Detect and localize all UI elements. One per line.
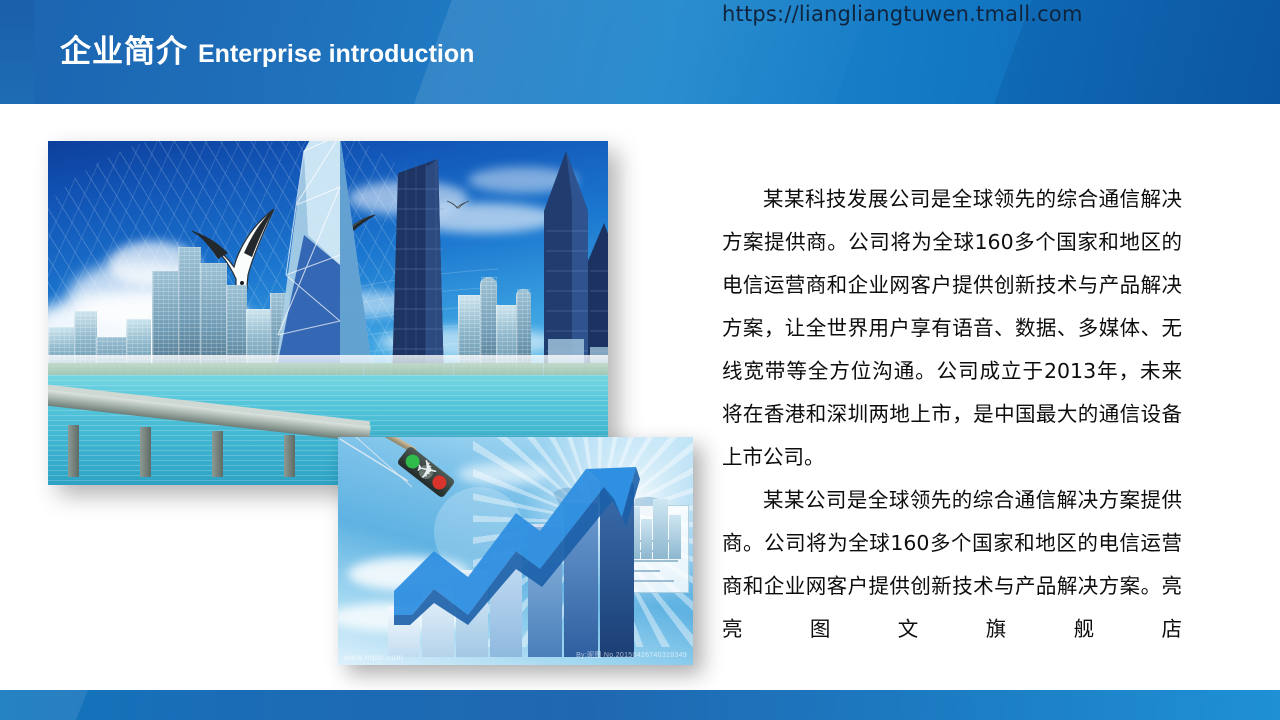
- page-title: 企业简介Enterprise introduction: [60, 36, 474, 67]
- body-text-block: 某某科技发展公司是全球领先的综合通信解决方案提供商。公司将为全球160多个国家和…: [722, 178, 1182, 694]
- store-url[interactable]: https://liangliangtuwen.tmall.com: [722, 2, 1083, 26]
- dark-tower: [382, 159, 458, 381]
- footer-diagonal-accent: [0, 690, 96, 720]
- building: [641, 519, 652, 559]
- page-title-chinese: 企业简介: [60, 34, 188, 69]
- photo-city-skyline: [48, 141, 608, 485]
- bridge-pier: [140, 427, 151, 477]
- bridge-pier: [212, 431, 223, 477]
- footer-bar: [0, 690, 1280, 720]
- growth-arrow-icon: [390, 465, 640, 625]
- bridge-pier: [284, 435, 295, 477]
- paragraph-2: 某某公司是全球领先的综合通信解决方案提供商。公司将为全球160多个国家和地区的电…: [722, 479, 1182, 694]
- page-title-english: Enterprise introduction: [198, 40, 474, 68]
- building: [653, 499, 668, 559]
- photo-watermark-left: www.nipic.com: [344, 653, 403, 662]
- slide-header: 企业简介Enterprise introduction: [0, 0, 1280, 104]
- bridge-pier: [68, 425, 79, 477]
- photo-growth-chart: ✈ www.nipic.com By:昵图 No.201504267403283…: [338, 437, 693, 665]
- paragraph-1: 某某科技发展公司是全球领先的综合通信解决方案提供商。公司将为全球160多个国家和…: [722, 178, 1182, 479]
- header-left-accent-band: [0, 0, 34, 104]
- twin-peak-tower: [526, 151, 608, 381]
- photo-watermark-right: By:昵图 No.20150426740328349: [576, 650, 687, 660]
- building: [669, 515, 681, 559]
- slide-root: 企业简介Enterprise introduction: [0, 0, 1280, 720]
- glass-tower: [256, 141, 396, 381]
